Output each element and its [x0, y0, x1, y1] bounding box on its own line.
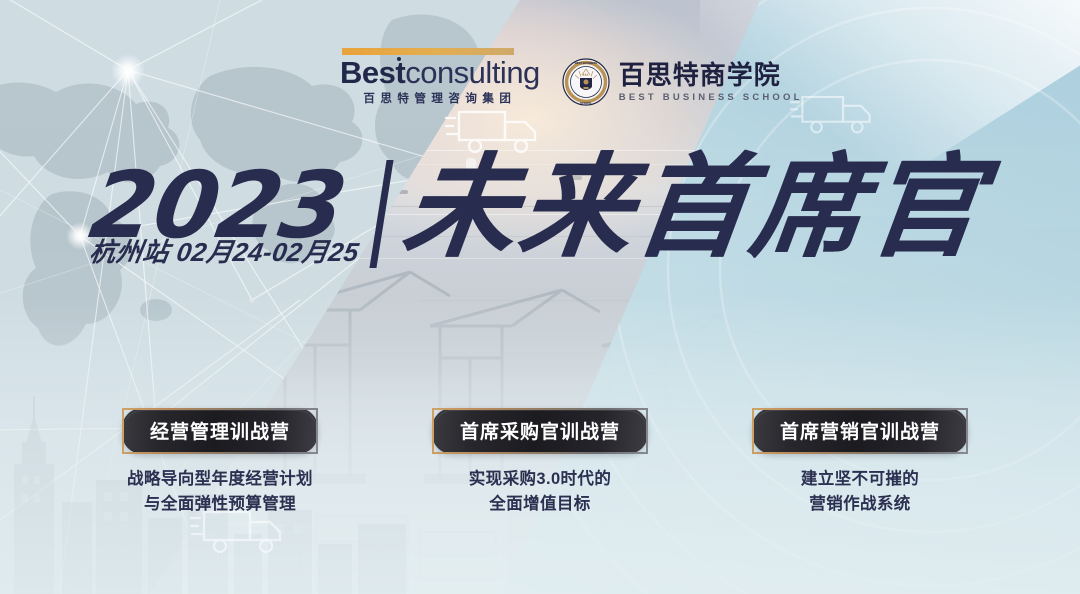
promo-banner: Bestconsulting 百思特管理咨询集团	[0, 0, 1080, 594]
course-card-row: 经营管理训战营 战略导向型年度经营计划 与全面弹性预算管理 首席采购官训战营 实…	[0, 408, 1080, 517]
course-description: 战略导向型年度经营计划 与全面弹性预算管理	[60, 467, 380, 517]
course-pill-badge[interactable]: 首席营销官训战营	[752, 408, 968, 454]
course-card: 经营管理训战营 战略导向型年度经营计划 与全面弹性预算管理	[60, 408, 380, 517]
course-card: 首席采购官训战营 实现采购3.0时代的 全面增值目标	[380, 408, 700, 517]
course-card: 首席营销官训战营 建立坚不可摧的 营销作战系统	[700, 408, 1020, 517]
course-desc-line: 战略导向型年度经营计划	[60, 467, 380, 492]
slash-divider	[369, 160, 393, 268]
course-pill-badge[interactable]: 首席采购官训战营	[432, 408, 648, 454]
course-desc-line: 建立坚不可摧的	[700, 467, 1020, 492]
course-desc-line: 与全面弹性预算管理	[60, 492, 380, 517]
event-title: 未来首席官	[397, 152, 991, 264]
course-desc-line: 全面增值目标	[380, 492, 700, 517]
course-pill-badge[interactable]: 经营管理训战营	[122, 408, 318, 454]
event-city-date: 杭州站 02月24-02月25	[87, 232, 362, 269]
course-desc-line: 营销作战系统	[700, 492, 1020, 517]
course-desc-line: 实现采购3.0时代的	[380, 467, 700, 492]
course-description: 建立坚不可摧的 营销作战系统	[700, 467, 1020, 517]
course-description: 实现采购3.0时代的 全面增值目标	[380, 467, 700, 517]
